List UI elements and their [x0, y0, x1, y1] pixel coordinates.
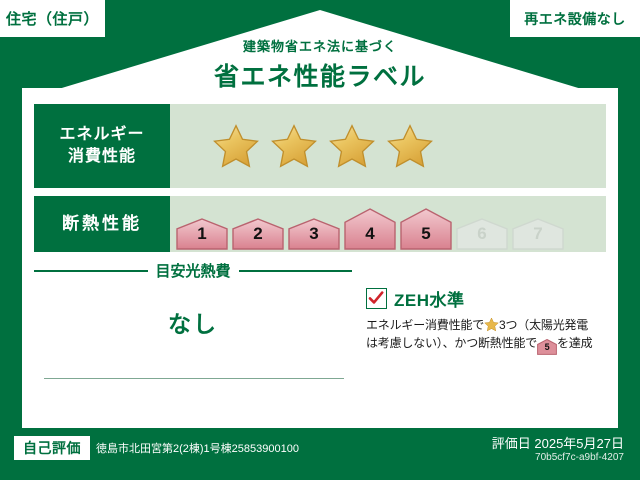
label-heading: 建築物省エネ法に基づく 省エネ性能ラベル: [0, 36, 640, 93]
renewable-energy-tag: 再エネ設備なし: [510, 0, 640, 37]
energy-performance-key: エネルギー 消費性能: [34, 104, 170, 188]
insulation-grade-1: 1: [176, 214, 228, 252]
insulation-grade-3: 3: [288, 214, 340, 252]
zeh-desc-part2: は考慮しない）、かつ断熱性能で: [366, 336, 537, 350]
utility-cost-value: なし: [34, 305, 352, 339]
zeh-desc-stars: 3つ（太陽光発電: [499, 318, 588, 332]
inline-grade-badge: 5: [537, 339, 557, 354]
check-icon: [368, 290, 384, 306]
zeh-desc-part1: エネルギー消費性能で: [366, 318, 484, 332]
energy-performance-value: [170, 104, 606, 188]
zeh-block: ZEH水準 エネルギー消費性能で 3つ（太陽光発電 は考慮しない）、かつ断熱性能…: [366, 286, 606, 354]
rule-right: [239, 270, 353, 272]
building-type-label: 住宅（住戸）: [6, 8, 99, 29]
zeh-checkbox[interactable]: [366, 288, 387, 309]
energy-performance-label: 住宅（住戸） 再エネ設備なし 建築物省エネ法に基づく 省エネ性能ラベル エネルギ…: [0, 0, 640, 480]
insulation-grade-7: 7: [512, 214, 564, 252]
insulation-grade-value: 4: [365, 224, 374, 248]
zeh-title: ZEH水準: [394, 286, 465, 311]
zeh-desc-part3: を達成: [557, 336, 592, 350]
insulation-performance-key: 断熱性能: [34, 196, 170, 252]
insulation-grade-4: 4: [344, 204, 396, 252]
label-footer: 自己評価 徳島市北田宮第2(2棟)1号棟25853900100 評価日 2025…: [0, 428, 640, 480]
insulation-key-label: 断熱性能: [62, 213, 142, 236]
self-evaluation-tag: 自己評価: [14, 436, 90, 460]
star-icon: [212, 123, 260, 169]
zeh-header: ZEH水準: [366, 286, 606, 311]
insulation-performance-row: 断熱性能 1234567: [34, 196, 606, 252]
heading-subtitle: 建築物省エネ法に基づく: [0, 36, 640, 55]
inline-grade-value: 5: [537, 339, 557, 355]
lower-section: 目安光熱費 なし ZEH水準 エネルギー消費性能で: [34, 260, 606, 420]
label-body: エネルギー 消費性能 断熱性能 1234567 目安光熱費: [22, 96, 618, 428]
insulation-grade-5: 5: [400, 204, 452, 252]
renewable-energy-label: 再エネ設備なし: [524, 9, 626, 29]
rule-left: [34, 270, 148, 272]
insulation-grade-value: 7: [533, 224, 542, 248]
insulation-grade-value: 6: [477, 224, 486, 248]
insulation-grade-scale: 1234567: [170, 196, 564, 252]
insulation-grade-value: 2: [253, 224, 262, 248]
zeh-description: エネルギー消費性能で 3つ（太陽光発電 は考慮しない）、かつ断熱性能で 5 を達…: [366, 316, 606, 354]
insulation-performance-value: 1234567: [170, 196, 606, 252]
evaluation-date: 評価日 2025年5月27日: [492, 433, 624, 452]
insulation-grade-value: 1: [197, 224, 206, 248]
utility-cost-title: 目安光熱費: [34, 260, 352, 281]
energy-key-line2: 消費性能: [68, 146, 136, 168]
utility-cost-underline: [44, 378, 344, 379]
page-title: 省エネ性能ラベル: [0, 57, 640, 93]
building-type-tag: 住宅（住戸）: [0, 0, 105, 37]
star-icon: [386, 123, 434, 169]
star-icon: [328, 123, 376, 169]
utility-cost-label: 目安光熱費: [156, 260, 231, 281]
insulation-grade-value: 5: [421, 224, 430, 248]
insulation-grade-2: 2: [232, 214, 284, 252]
property-address: 徳島市北田宮第2(2棟)1号棟25853900100: [96, 440, 299, 456]
energy-key-line1: エネルギー: [59, 124, 144, 146]
self-evaluation-label: 自己評価: [23, 438, 81, 458]
insulation-grade-value: 3: [309, 224, 318, 248]
energy-performance-row: エネルギー 消費性能: [34, 104, 606, 188]
inline-star-icon: [484, 317, 499, 332]
star-rating: [170, 123, 434, 169]
utility-cost-block: 目安光熱費 なし: [34, 260, 352, 339]
label-identifier: 70b5cf7c-a9bf-4207: [535, 452, 624, 463]
insulation-grade-6: 6: [456, 214, 508, 252]
star-icon: [270, 123, 318, 169]
